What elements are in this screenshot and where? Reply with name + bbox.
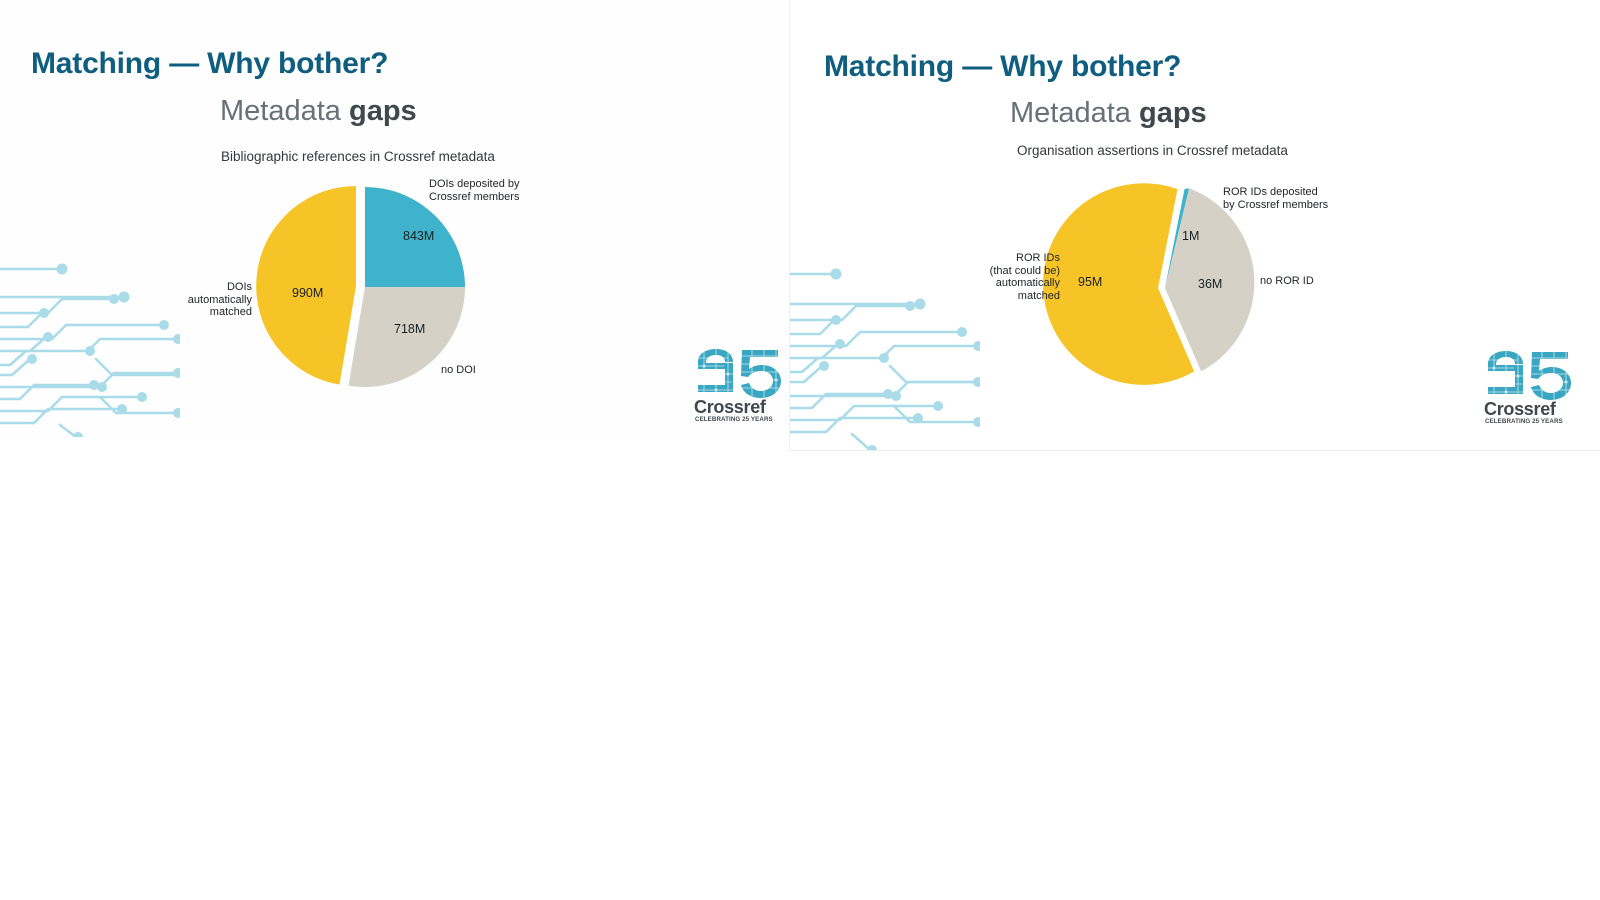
pie-callout-auto-matched: ROR IDs (that could be) automatically ma…: [950, 252, 1060, 302]
slice-value-no-doi: 718M: [394, 322, 425, 336]
slice-value-auto-matched: 95M: [1078, 275, 1102, 289]
section-heading: Metadata gaps: [220, 95, 417, 128]
pie-chart-bibliographic: 843M 718M 990M DOIs deposited by Crossre…: [150, 165, 620, 405]
crossref-25-logo: Crossref CELEBRATING 25 YEARS: [694, 348, 784, 428]
slice-value-deposited: 1M: [1182, 229, 1199, 243]
pie-chart-organisation: 95M 1M 36M ROR IDs deposited by Crossref…: [930, 170, 1530, 410]
section-heading: Metadata gaps: [1010, 97, 1207, 130]
chart-subtitle: Bibliographic references in Crossref met…: [221, 149, 495, 164]
page-title: Matching — Why bother?: [824, 50, 1181, 84]
crossref-tagline: CELEBRATING 25 YEARS: [695, 416, 785, 423]
section-heading-bold: gaps: [1139, 97, 1207, 129]
crossref-wordmark: Crossref: [1484, 399, 1574, 420]
crossref-wordmark: Crossref: [694, 397, 784, 418]
slides-canvas: Matching — Why bother? Metadata gaps Bib…: [0, 0, 1600, 900]
crossref-25-mark-icon: [1484, 350, 1574, 402]
crossref-25-mark-icon: [694, 348, 784, 400]
section-heading-normal: Metadata: [1010, 97, 1139, 129]
slice-value-no-ror: 36M: [1198, 277, 1222, 291]
slice-value-deposited: 843M: [403, 229, 434, 243]
pie-callout-deposited: DOIs deposited by Crossref members: [429, 178, 599, 203]
crossref-25-logo: Crossref CELEBRATING 25 YEARS: [1484, 350, 1574, 430]
slide-right[interactable]: Matching — Why bother? Metadata gaps Org…: [790, 0, 1600, 450]
slide-left[interactable]: Matching — Why bother? Metadata gaps Bib…: [0, 0, 790, 437]
crossref-tagline: CELEBRATING 25 YEARS: [1485, 418, 1575, 425]
slice-value-auto-matched: 990M: [292, 286, 323, 300]
pie-callout-no-ror: no ROR ID: [1260, 275, 1370, 288]
page-title: Matching — Why bother?: [31, 47, 388, 81]
section-heading-bold: gaps: [349, 95, 417, 127]
pie-callout-no-doi: no DOI: [441, 364, 541, 377]
pie-callout-deposited: ROR IDs deposited by Crossref members: [1223, 186, 1403, 211]
section-heading-normal: Metadata: [220, 95, 349, 127]
chart-subtitle: Organisation assertions in Crossref meta…: [1017, 143, 1288, 158]
pie-callout-auto-matched: DOIs automatically matched: [142, 281, 252, 319]
